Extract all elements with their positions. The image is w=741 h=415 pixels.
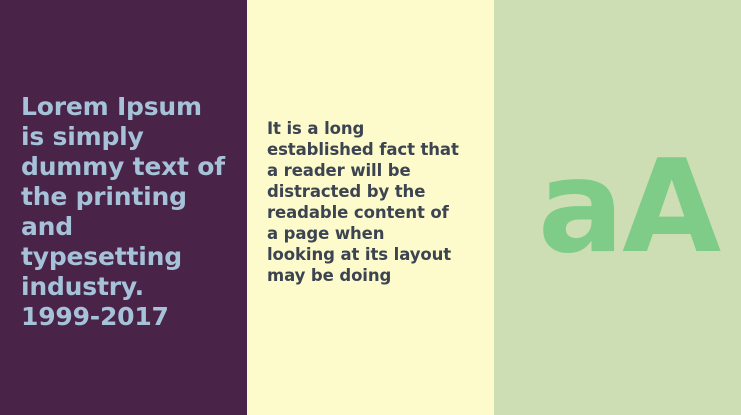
slide-canvas: Lorem Ipsum is simply dummy text of the … (0, 0, 741, 415)
typeface-sample-glyphs: aA (494, 0, 741, 415)
body-paragraph: It is a long established fact that a rea… (267, 118, 482, 286)
body-panel: It is a long established fact that a rea… (247, 0, 494, 415)
headline-panel: Lorem Ipsum is simply dummy text of the … (0, 0, 247, 415)
typeface-sample-panel: aA (494, 0, 741, 415)
headline-text: Lorem Ipsum is simply dummy text of the … (21, 92, 243, 332)
